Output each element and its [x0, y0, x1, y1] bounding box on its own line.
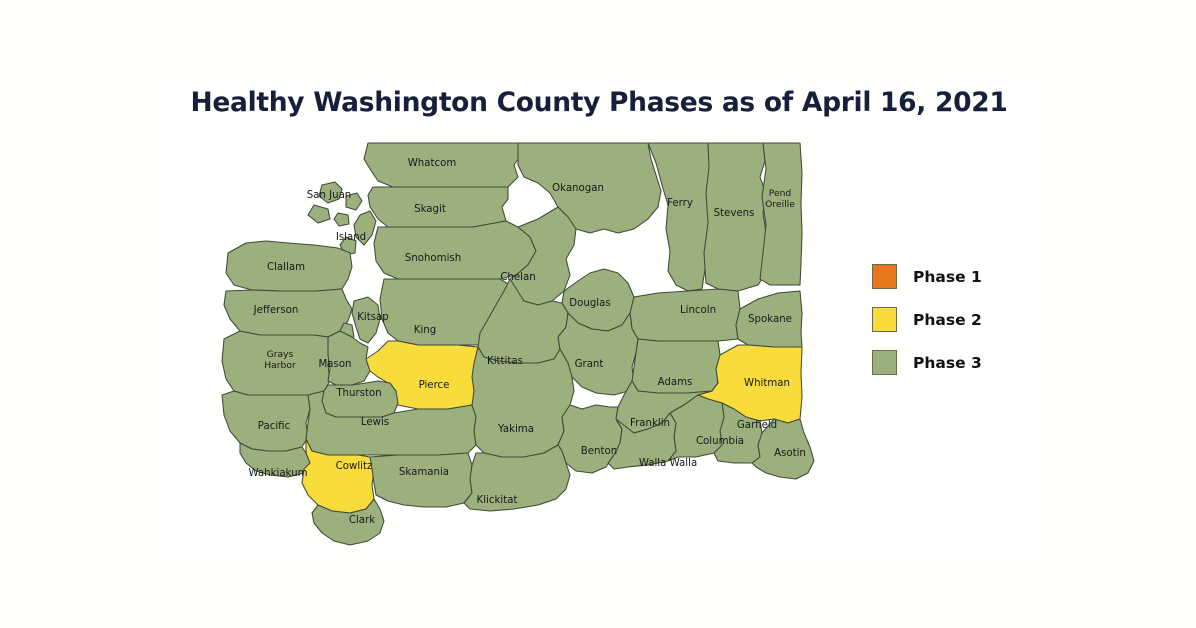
county-pend-oreille[interactable]: [760, 143, 802, 285]
county-label-pacific: Pacific: [258, 421, 290, 432]
county-label-snohomish: Snohomish: [405, 253, 461, 264]
county-label-stevens: Stevens: [714, 208, 755, 219]
county-label-king: King: [414, 325, 436, 336]
county-label-grays-harbor: GraysHarbor: [264, 349, 296, 371]
county-label-ferry: Ferry: [667, 198, 693, 209]
county-label-adams: Adams: [658, 377, 693, 388]
county-label-pend-oreille: PendOreille: [765, 188, 795, 210]
county-ferry[interactable]: [648, 143, 710, 291]
legend-swatch-3: [872, 350, 897, 375]
county-label-mason: Mason: [318, 359, 351, 370]
legend-row-phase-1: Phase 1: [872, 255, 1032, 298]
legend-label: Phase 1: [913, 268, 982, 286]
map-infographic: Healthy Washington County Phases as of A…: [0, 0, 1196, 628]
county-shapes: [222, 143, 814, 545]
county-san-juan[interactable]: [308, 182, 362, 226]
content-panel: Healthy Washington County Phases as of A…: [158, 65, 1040, 568]
county-label-grant: Grant: [575, 359, 604, 370]
county-label-columbia: Columbia: [696, 436, 744, 447]
county-label-spokane: Spokane: [748, 314, 792, 325]
county-label-clallam: Clallam: [267, 262, 305, 273]
map-svg: WhatcomOkanoganFerryStevensPendOreilleSa…: [218, 133, 838, 553]
county-label-wahkiakum: Wahkiakum: [248, 468, 307, 479]
county-label-chelan: Chelan: [500, 272, 535, 283]
county-label-garfield: Garfield: [737, 420, 777, 431]
phase-legend: Phase 1Phase 2Phase 3: [872, 255, 1032, 384]
county-label-pierce: Pierce: [419, 380, 450, 391]
legend-row-phase-3: Phase 3: [872, 341, 1032, 384]
legend-row-phase-2: Phase 2: [872, 298, 1032, 341]
county-label-cowlitz: Cowlitz: [336, 461, 373, 472]
county-label-lewis: Lewis: [361, 417, 389, 428]
washington-county-map: WhatcomOkanoganFerryStevensPendOreilleSa…: [218, 133, 838, 553]
county-label-klickitat: Klickitat: [477, 495, 518, 506]
county-label-franklin: Franklin: [630, 418, 670, 429]
county-label-benton: Benton: [581, 446, 617, 457]
county-thurston[interactable]: [322, 381, 398, 417]
county-label-skagit: Skagit: [414, 204, 446, 215]
county-label-thurston: Thurston: [335, 388, 381, 399]
county-label-okanogan: Okanogan: [552, 183, 604, 194]
county-label-clark: Clark: [349, 515, 375, 526]
county-label-island: Island: [336, 232, 366, 243]
county-label-lincoln: Lincoln: [680, 305, 716, 316]
legend-label: Phase 2: [913, 311, 982, 329]
county-label-whitman: Whitman: [744, 378, 790, 389]
county-label-kittitas: Kittitas: [487, 356, 523, 367]
county-skamania[interactable]: [370, 453, 472, 507]
county-label-skamania: Skamania: [399, 467, 449, 478]
county-label-douglas: Douglas: [569, 298, 610, 309]
county-label-jefferson: Jefferson: [253, 305, 299, 316]
county-snohomish[interactable]: [374, 221, 536, 279]
page-title: Healthy Washington County Phases as of A…: [158, 87, 1040, 118]
county-label-whatcom: Whatcom: [408, 158, 457, 169]
county-label-yakima: Yakima: [497, 424, 534, 435]
county-label-asotin: Asotin: [774, 448, 806, 459]
county-label-walla-walla: Walla Walla: [639, 458, 697, 469]
county-label-san-juan: San Juan: [307, 190, 352, 201]
legend-label: Phase 3: [913, 354, 982, 372]
county-label-kitsap: Kitsap: [357, 312, 389, 323]
legend-swatch-1: [872, 264, 897, 289]
legend-swatch-2: [872, 307, 897, 332]
